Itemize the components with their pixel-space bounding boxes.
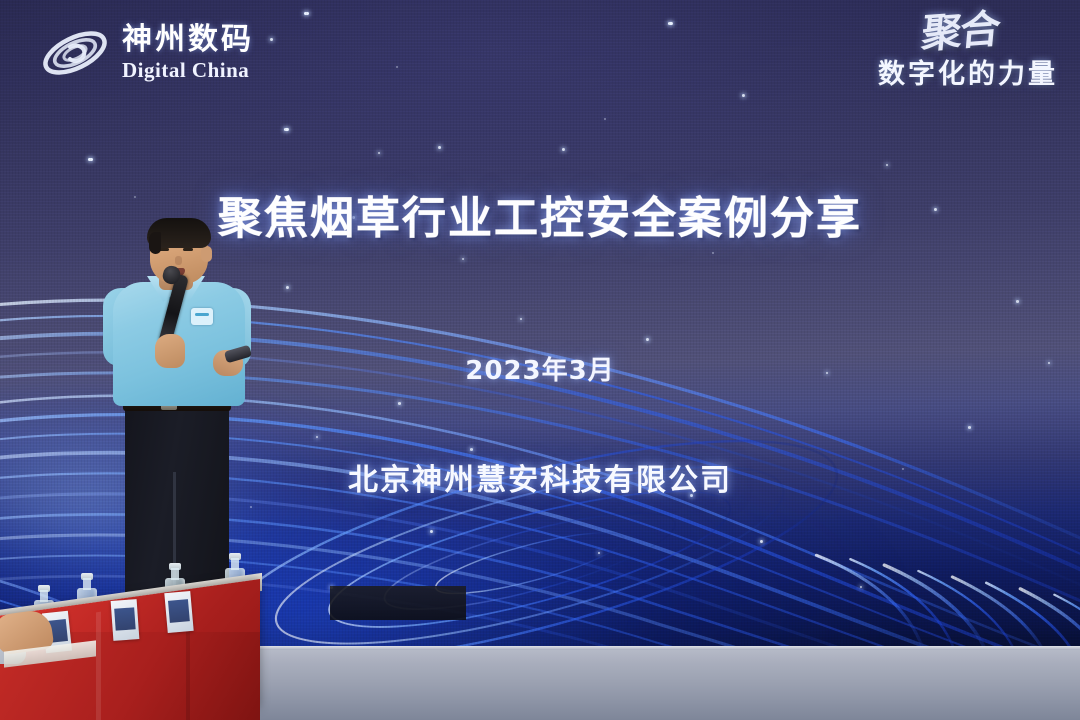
brush-calligraphy-text: 聚合 — [920, 11, 1000, 52]
logo-english-name: Digital China — [122, 60, 254, 81]
bottle-neck — [171, 568, 179, 580]
logo-chinese-name: 神州数码 — [122, 25, 254, 55]
theme-subtitle: 数字化的力量 — [788, 52, 1058, 91]
bottle-neck — [40, 590, 48, 602]
name-card — [111, 599, 140, 641]
presenter-ear — [201, 246, 212, 262]
bottle-neck — [83, 578, 91, 590]
presenter-hand-holding-mic — [155, 334, 185, 368]
presenter-eye-right — [183, 248, 193, 251]
conference-photo: 神州数码 Digital China 聚合 数字化的力量 聚焦烟草行业工控安全案… — [0, 0, 1080, 720]
galaxy-swirl-icon — [40, 22, 110, 84]
presenter-nose — [175, 256, 182, 265]
table-cloth-fold — [96, 612, 101, 720]
shirt-chest-logo — [191, 308, 213, 325]
bottle-neck — [231, 558, 239, 570]
digital-china-logo: 神州数码 Digital China — [40, 22, 254, 84]
name-card — [164, 591, 193, 633]
background-shadow-gap — [330, 586, 466, 620]
presenter-hair — [147, 218, 211, 248]
event-theme-logo: 聚合 数字化的力量 — [788, 14, 1058, 91]
